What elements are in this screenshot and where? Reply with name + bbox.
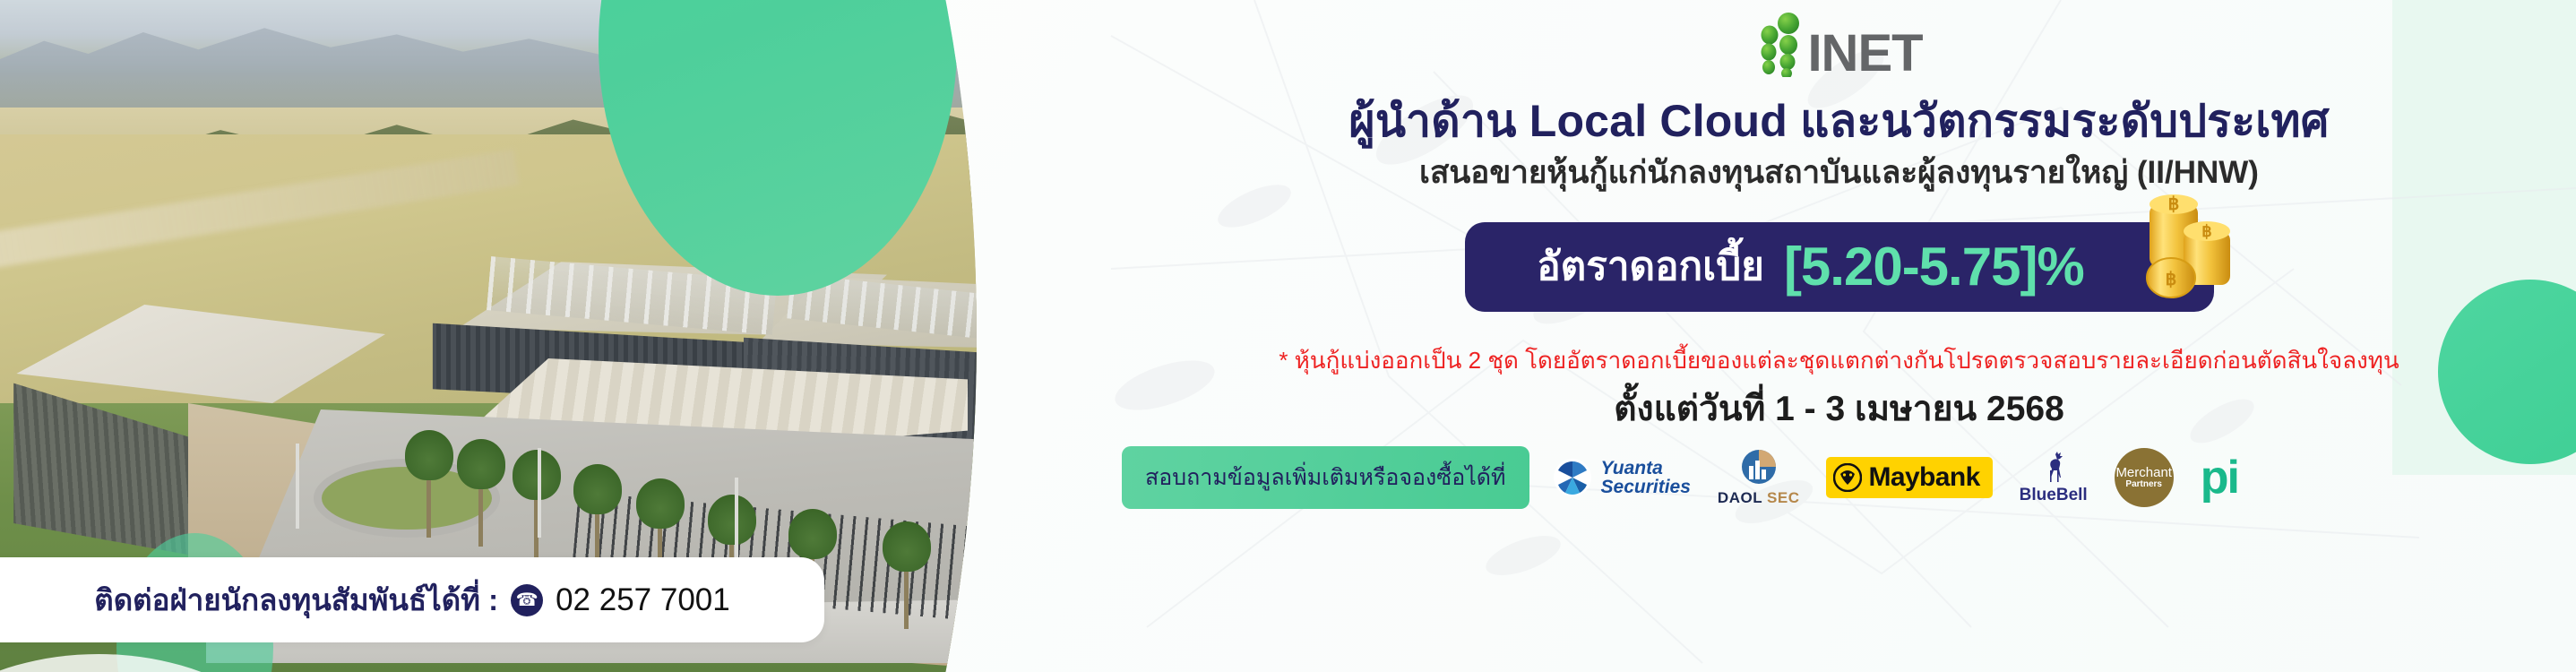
yuanta-line-1: Yuanta bbox=[1601, 459, 1691, 478]
footnote-disclaimer: * หุ้นกู้แบ่งออกเป็น 2 ชุด โดยอัตราดอกเบ… bbox=[1102, 342, 2576, 379]
interest-rate-section: อัตราดอกเบี้ย [5.20-5.75]% bbox=[1102, 222, 2576, 312]
gold-coins-icon: ฿ ฿ ฿ bbox=[2137, 185, 2244, 310]
merchant-line-2: Partners bbox=[2125, 480, 2162, 490]
phone-icon: ☎ bbox=[511, 584, 543, 616]
content-column: INET ผู้นำด้าน Local Cloud และนวัตกรรมระ… bbox=[1102, 0, 2576, 672]
page-headline: ผู้นำด้าน Local Cloud และนวัตกรรมระดับปร… bbox=[1102, 86, 2576, 157]
svg-text:฿: ฿ bbox=[2167, 194, 2179, 214]
broker-logo-pi[interactable]: pi bbox=[2201, 461, 2238, 495]
svg-text:฿: ฿ bbox=[2165, 270, 2176, 289]
contact-label: ติดต่อฝ่ายนักลงทุนสัมพันธ์ได้ที่ : bbox=[94, 576, 498, 624]
broker-logo-daol[interactable]: DAOL SEC bbox=[1718, 448, 1800, 507]
palm-tree bbox=[457, 439, 505, 547]
daol-line-1: DAOL bbox=[1718, 489, 1762, 506]
broker-logo-merchant-partners[interactable]: Merchant Partners bbox=[2115, 448, 2174, 507]
page-subheadline: เสนอขายหุ้นกู้แก่นักลงทุนสถาบันและผู้ลงท… bbox=[1102, 148, 2576, 197]
interest-rate-value: [5.20-5.75]% bbox=[1784, 236, 2084, 297]
offering-dateline: ตั้งแต่วันที่ 1 - 3 เมษายน 2568 bbox=[1102, 381, 2576, 436]
more-info-button[interactable]: สอบถามข้อมูลเพิ่มเติมหรือจองซื้อได้ที่ bbox=[1122, 446, 1529, 509]
inet-dots-logo-icon bbox=[1755, 13, 1802, 77]
interest-rate-label: อัตราดอกเบี้ย bbox=[1537, 235, 1764, 297]
brand-logo-row: INET bbox=[1102, 13, 2576, 77]
broker-logo-yuanta[interactable]: Yuanta Securities bbox=[1553, 458, 1691, 497]
investor-relations-contact-box: ติดต่อฝ่ายนักลงทุนสัมพันธ์ได้ที่ : ☎ 02 … bbox=[0, 557, 824, 642]
broker-logo-maybank[interactable]: Maybank bbox=[1826, 457, 1992, 498]
contact-phone-number[interactable]: 02 257 7001 bbox=[556, 582, 730, 618]
pi-wordmark: pi bbox=[2201, 461, 2238, 495]
bluebell-deer-icon bbox=[2038, 451, 2070, 485]
promotional-banner: ติดต่อฝ่ายนักลงทุนสัมพันธ์ได้ที่ : ☎ 02 … bbox=[0, 0, 2576, 672]
cta-and-brokers-row: สอบถามข้อมูลเพิ่มเติมหรือจองซื้อได้ที่ bbox=[1102, 446, 2576, 509]
street-lamp bbox=[538, 448, 541, 538]
broker-logo-bluebell[interactable]: BlueBell bbox=[2020, 451, 2088, 505]
maybank-tiger-icon bbox=[1833, 463, 1862, 492]
yuanta-star-icon bbox=[1553, 458, 1592, 497]
palm-tree bbox=[573, 464, 622, 572]
bluebell-wordmark: BlueBell bbox=[2020, 486, 2088, 505]
broker-logo-list: Yuanta Securities bbox=[1553, 448, 2238, 507]
inet-logo[interactable]: INET bbox=[1755, 13, 1922, 77]
palm-tree bbox=[405, 430, 453, 538]
svg-text:฿: ฿ bbox=[2201, 222, 2211, 240]
yuanta-line-2: Securities bbox=[1601, 478, 1691, 496]
street-lamp bbox=[296, 444, 299, 529]
palm-tree bbox=[513, 450, 561, 557]
daol-line-2: SEC bbox=[1767, 489, 1799, 506]
interest-rate-box: อัตราดอกเบี้ย [5.20-5.75]% bbox=[1465, 222, 2214, 312]
merchant-line-1: Merchant bbox=[2115, 466, 2172, 480]
palm-tree bbox=[883, 521, 931, 629]
inet-logo-text: INET bbox=[1807, 30, 1922, 77]
daol-circle-icon bbox=[1738, 448, 1779, 487]
maybank-wordmark: Maybank bbox=[1868, 462, 1979, 493]
